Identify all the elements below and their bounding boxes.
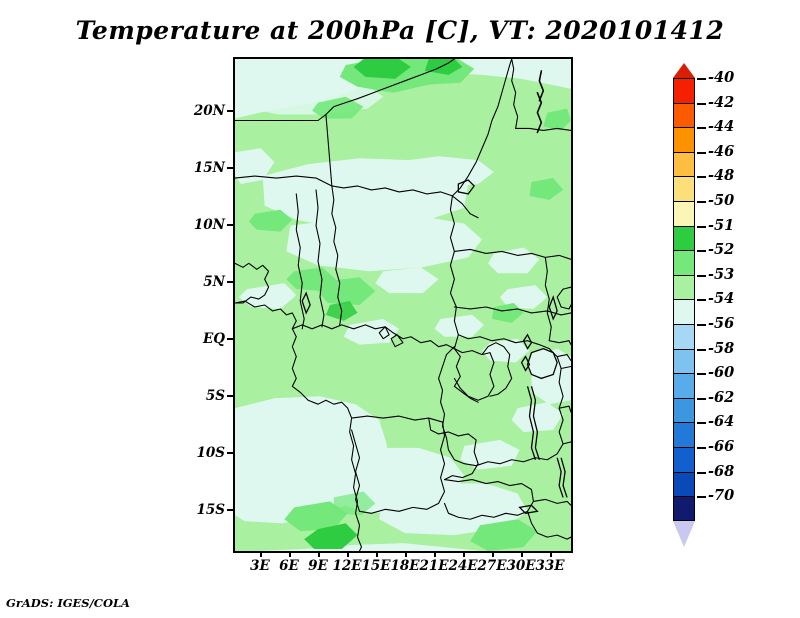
- x-tick-mark: [521, 551, 523, 557]
- colorbar-band: [673, 398, 695, 423]
- colorbar-tick-mark: [697, 127, 706, 129]
- colorbar-tick-label: -64: [708, 413, 734, 430]
- colorbar-tick-label: -56: [708, 315, 734, 332]
- colorbar-band: [673, 275, 695, 300]
- colorbar-tick-mark: [697, 250, 706, 252]
- colorbar-tick-label: -66: [708, 438, 734, 455]
- colorbar-tick-label: -60: [708, 364, 734, 381]
- colorbar-tick-label: -62: [708, 389, 734, 406]
- colorbar-band: [673, 176, 695, 201]
- colorbar-tick-mark: [697, 275, 706, 277]
- colorbar-tick-label: -58: [708, 340, 734, 357]
- y-tick-mark: [227, 395, 233, 397]
- colorbar-tick-mark: [697, 299, 706, 301]
- colorbar-band: [673, 299, 695, 324]
- colorbar-tick-mark: [697, 176, 706, 178]
- colorbar-tick-mark: [697, 373, 706, 375]
- colorbar-tick-label: -48: [708, 167, 734, 184]
- y-tick-label: 15N: [165, 160, 225, 176]
- colorbar-band: [673, 78, 695, 103]
- x-tick-mark: [463, 551, 465, 557]
- colorbar-tick-label: -44: [708, 118, 734, 135]
- y-tick-mark: [227, 224, 233, 226]
- y-tick-mark: [227, 338, 233, 340]
- y-tick-label: EQ: [165, 331, 225, 347]
- colorbar-tick-mark: [697, 447, 706, 449]
- map-canvas: [235, 59, 571, 551]
- y-tick-label: 15S: [165, 502, 225, 518]
- x-tick-mark: [289, 551, 291, 557]
- colorbar-tick-label: -52: [708, 241, 734, 258]
- colorbar-tick-label: -42: [708, 94, 734, 111]
- colorbar-tick-label: -40: [708, 69, 734, 86]
- colorbar-band: [673, 324, 695, 349]
- x-tick-mark: [492, 551, 494, 557]
- x-tick-mark: [376, 551, 378, 557]
- colorbar-tick-label: -51: [708, 217, 734, 234]
- y-tick-mark: [227, 110, 233, 112]
- colorbar-tick-label: -46: [708, 143, 734, 160]
- colorbar-bands: [673, 78, 695, 521]
- colorbar-tick-mark: [697, 78, 706, 80]
- colorbar-band: [673, 349, 695, 374]
- x-tick-mark: [434, 551, 436, 557]
- colorbar-tick-mark: [697, 496, 706, 498]
- colorbar-tick-label: -68: [708, 463, 734, 480]
- colorbar-tick-mark: [697, 398, 706, 400]
- y-tick-label: 20N: [165, 103, 225, 119]
- colorbar-band: [673, 226, 695, 251]
- y-tick-label: 5N: [165, 274, 225, 290]
- grads-plot: Temperature at 200hPa [C], VT: 202010141…: [0, 0, 800, 618]
- footer-credit: GrADS: IGES/COLA: [6, 596, 130, 610]
- y-tick-mark: [227, 167, 233, 169]
- x-tick-mark: [347, 551, 349, 557]
- x-tick-mark: [318, 551, 320, 557]
- colorbar-band: [673, 422, 695, 447]
- map-panel: [233, 57, 573, 553]
- page-title: Temperature at 200hPa [C], VT: 202010141…: [0, 16, 800, 45]
- y-tick-mark: [227, 509, 233, 511]
- colorbar-band: [673, 152, 695, 177]
- colorbar-tick-mark: [697, 103, 706, 105]
- colorbar-band: [673, 447, 695, 472]
- y-tick-mark: [227, 452, 233, 454]
- colorbar-tick-mark: [697, 324, 706, 326]
- colorbar-tick-label: -54: [708, 290, 734, 307]
- colorbar-tick-label: -70: [708, 487, 734, 504]
- colorbar-band: [673, 373, 695, 398]
- colorbar-band: [673, 250, 695, 275]
- x-tick-mark: [405, 551, 407, 557]
- colorbar-tick-mark: [697, 152, 706, 154]
- colorbar-band: [673, 496, 695, 521]
- colorbar-band: [673, 201, 695, 226]
- y-tick-label: 10S: [165, 445, 225, 461]
- colorbar-band: [673, 472, 695, 497]
- colorbar-under-arrow: [673, 521, 695, 547]
- colorbar-tick-mark: [697, 201, 706, 203]
- colorbar-tick-label: -50: [708, 192, 734, 209]
- x-tick-mark: [550, 551, 552, 557]
- x-tick-label: 33E: [527, 558, 573, 574]
- y-tick-label: 10N: [165, 217, 225, 233]
- colorbar-tick-mark: [697, 349, 706, 351]
- y-tick-label: 5S: [165, 388, 225, 404]
- colorbar-band: [673, 127, 695, 152]
- colorbar-tick-mark: [697, 422, 706, 424]
- y-tick-mark: [227, 281, 233, 283]
- colorbar-over-arrow: [673, 63, 695, 78]
- colorbar-tick-label: -53: [708, 266, 734, 283]
- colorbar-tick-mark: [697, 226, 706, 228]
- colorbar-band: [673, 103, 695, 128]
- colorbar-tick-mark: [697, 472, 706, 474]
- x-tick-mark: [260, 551, 262, 557]
